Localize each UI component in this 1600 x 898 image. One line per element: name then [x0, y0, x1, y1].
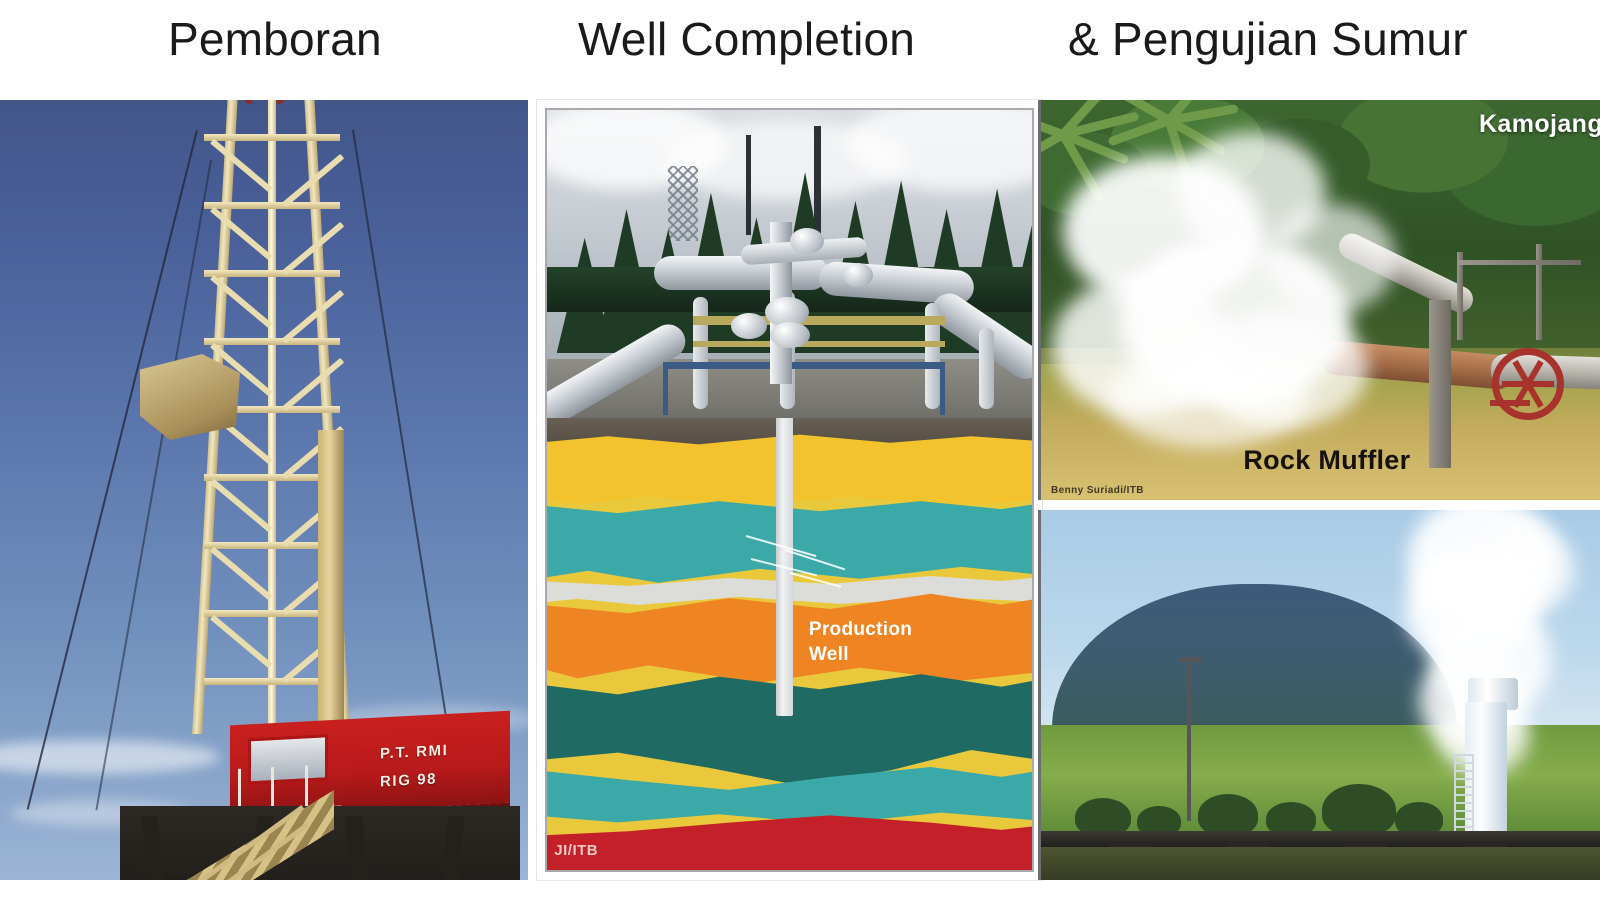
rig-doghouse: P.T. RMI RIG 98 [230, 711, 510, 818]
foreground-ground [1041, 847, 1600, 880]
well-completion-diagram: Production Well JI/ITB [537, 100, 1042, 880]
production-well-label-line1: Production [809, 617, 912, 642]
support-post [1429, 300, 1451, 468]
production-well-label: Production Well [809, 617, 912, 667]
monkey-board [140, 354, 240, 440]
rig-company-label: P.T. RMI [380, 742, 448, 763]
palm-tree [1063, 130, 1065, 132]
diagram-frame: Production Well JI/ITB [545, 108, 1034, 872]
wellhead-photo [547, 110, 1032, 422]
steam-pipeline-centre [654, 256, 829, 290]
derrick-leg-mid [268, 100, 276, 734]
heading-well-completion: Well Completion [578, 9, 915, 69]
wellhead-valve [790, 228, 824, 254]
well-testing-photos: Kamojang Rock Muffler Benny Suriadi/ITB [1038, 100, 1600, 880]
palm-tree [1169, 116, 1171, 118]
rig-number-label: RIG 98 [380, 770, 437, 790]
production-well-label-line2: Well [809, 642, 912, 667]
headings-row: Pemboran Well Completion & Pengujian Sum… [0, 0, 1600, 95]
heading-pemboran: Pemboran [168, 9, 382, 69]
drilling-rig-photo: P.T. RMI RIG 98 [0, 100, 528, 880]
diagram-watermark: JI/ITB [554, 842, 598, 859]
rock-muffler-caption: Rock Muffler [1243, 445, 1410, 476]
heading-pengujian-sumur: & Pengujian Sumur [1068, 9, 1468, 69]
light-pole [1187, 658, 1191, 821]
geological-cross-section: Production Well JI/ITB [547, 418, 1032, 870]
vertical-discharge-photo [1038, 510, 1600, 880]
rock-muffler-photo: Kamojang Rock Muffler Benny Suriadi/ITB [1038, 100, 1600, 500]
kamojang-location-label: Kamojang [1479, 110, 1600, 139]
wellhead-valve [731, 313, 767, 339]
photo-credit: Benny Suriadi/ITB [1051, 485, 1144, 496]
wellhead-valve [770, 322, 810, 348]
wellhead-valve [843, 263, 873, 287]
valve-wheel [1492, 348, 1564, 420]
